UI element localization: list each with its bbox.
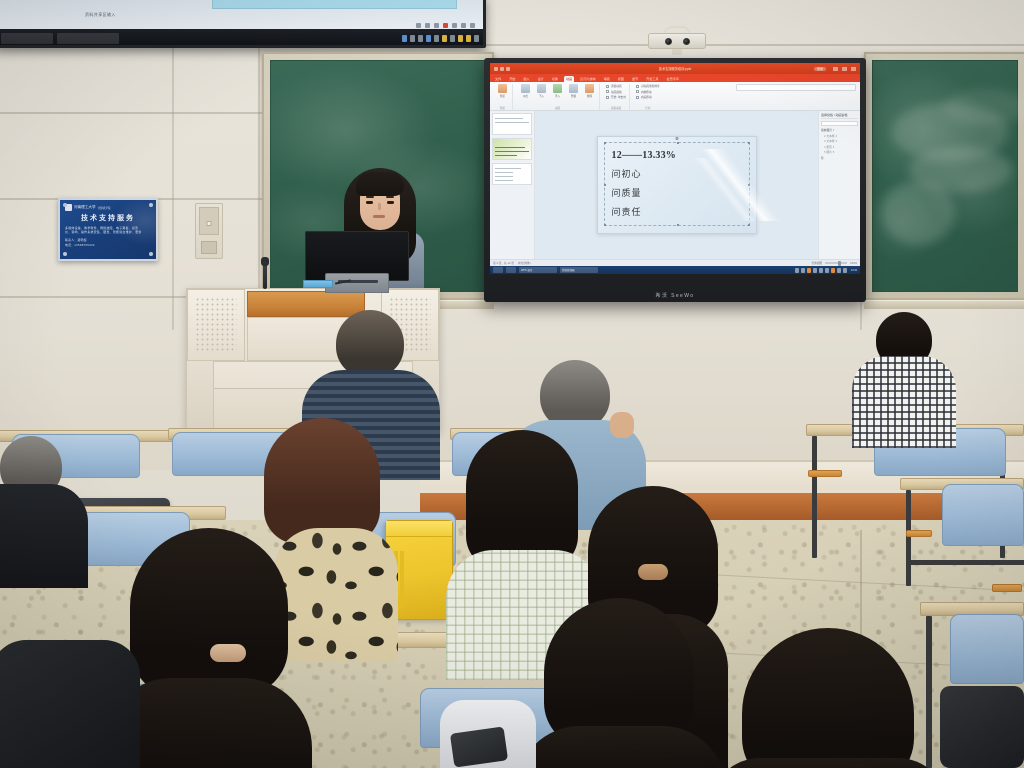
microphone-head-icon: [261, 257, 269, 266]
task-pane-item[interactable]: 秒: [821, 156, 824, 160]
ceiling-monitor-screen: 资料共享区输入: [0, 0, 483, 29]
desk-leg: [906, 490, 911, 586]
language-indicator[interactable]: 中文(简体): [518, 261, 531, 265]
head: [336, 310, 404, 378]
poster-contact-name: 联系人：郑明超: [65, 238, 151, 242]
presenter-eye: [387, 201, 394, 204]
hair-tie: [638, 564, 668, 580]
rotate-handle[interactable]: [675, 137, 678, 140]
hair-fall: [710, 758, 948, 768]
seat-back[interactable]: [950, 614, 1024, 684]
task-pane-item[interactable]: 4 矩形 4: [821, 145, 858, 149]
notification-icon: [807, 268, 811, 273]
slide-bullet-3: 问责任: [612, 205, 746, 218]
animation-task-pane[interactable]: 选择窗格 / 动画窗格 播放自 1 标题 1 2 文本框 2 3 文本框 3 4…: [818, 111, 860, 259]
quick-access-toolbar[interactable]: [494, 67, 510, 71]
fly-in-icon: [537, 84, 546, 93]
windows-taskbar[interactable]: WPS 演示 资源管理器 14:32: [490, 266, 860, 274]
shared-document-region: [212, 0, 457, 9]
status-bar-right[interactable]: 普通视图 100%: [811, 261, 857, 265]
task-pane-item[interactable]: 1 标题 1: [821, 128, 858, 132]
ribbon-button-float[interactable]: 浮入: [551, 84, 564, 98]
wps-presentation-window[interactable]: 技术支持服务培训.pptx 登录 文件 开始 插入 设计 切换 动画 幻灯片放映…: [490, 63, 860, 274]
poster-org-suffix: 计算机学院: [98, 206, 111, 210]
slide-counter: 第 3 张，共 12 张: [493, 261, 514, 265]
ceiling-monitor-toolbar: [416, 23, 475, 28]
add-animation-icon: [606, 85, 609, 88]
interactive-flat-panel[interactable]: 技术支持服务培训.pptx 登录 文件 开始 插入 设计 切换 动画 幻灯片放映…: [484, 58, 866, 302]
taskbar-app-wps[interactable]: WPS 演示: [519, 267, 557, 273]
wall-control-panel[interactable]: [195, 203, 223, 259]
record-icon: [443, 23, 448, 28]
ribbon-button-wipe[interactable]: 擦除: [583, 84, 596, 98]
taskbar-clock[interactable]: 14:32: [851, 269, 857, 272]
audience-member-jacket: [0, 640, 140, 768]
ceiling-monitor-note: 资料共享区输入: [85, 12, 116, 18]
camera-lens-icon: [665, 38, 672, 45]
tab-home[interactable]: 开始: [507, 76, 517, 82]
move-down-icon: [636, 96, 639, 99]
float-icon: [553, 84, 562, 93]
ribbon-button-label: 擦除: [587, 94, 592, 98]
camera-lens-icon: [683, 38, 690, 45]
reorder-icon: [636, 85, 639, 88]
audience-member-right-back: [856, 312, 952, 442]
ribbon-button-label: 劈裂: [571, 94, 576, 98]
current-slide[interactable]: 12——13.33% 问初心 问质量 问责任: [597, 136, 757, 234]
black-bag: [940, 686, 1024, 768]
hand: [610, 412, 634, 438]
ribbon-button-label: 飞入: [539, 94, 544, 98]
ribbon-group-name: 计时: [645, 106, 650, 110]
torso: [0, 484, 88, 588]
folding-armrest: [808, 470, 842, 477]
chalkboard-right: [864, 52, 1024, 300]
reorder-animation-label[interactable]: 对动画重新排序: [636, 84, 660, 88]
search-icon[interactable]: [506, 267, 516, 273]
editor-body: 12——13.33% 问初心 问质量 问责任 选择窗格 / 动画窗格: [490, 111, 860, 259]
speaker-grille-icon: [195, 297, 237, 353]
ribbon-tabs[interactable]: 文件 开始 插入 设计 切换 动画 幻灯片放映 审阅 视图 章节 开发工具 会员…: [490, 74, 860, 82]
folding-armrest: [992, 584, 1022, 592]
panel-vent: [201, 241, 217, 254]
move-later-button[interactable]: 向后移动: [636, 95, 652, 99]
ribbon-button-label: 浮入: [555, 94, 560, 98]
ribbon-group-timing: 对动画重新排序 向前移动 向后移动 计时: [633, 84, 663, 110]
add-animation-button[interactable]: 添加动画: [606, 84, 622, 88]
tab-transitions[interactable]: 切换: [550, 76, 560, 82]
podium-speaker-panel: [187, 289, 245, 361]
audience-member-front-right: [700, 628, 950, 768]
maximize-icon: [842, 67, 847, 71]
ribbon-group-advanced-animation: 添加动画 动画窗格 开始: 单击时 高级动画: [603, 84, 630, 110]
task-pane-item[interactable]: 3 文本框 3: [821, 139, 858, 143]
head: [130, 528, 288, 696]
poster-contact-phone: 电话：13598765432: [65, 243, 151, 247]
login-button[interactable]: 登录: [814, 67, 826, 71]
torso: [852, 356, 956, 448]
slide-heading: 12——13.33%: [612, 150, 746, 161]
zoom-level[interactable]: 100%: [850, 262, 857, 265]
command-search-input[interactable]: [736, 84, 856, 91]
slide-thumbnail[interactable]: [492, 113, 532, 135]
ribbon-group-preview: 预览 预览: [493, 84, 513, 110]
tab-insert[interactable]: 插入: [521, 76, 531, 82]
desk-leg: [812, 436, 817, 558]
animation-pane-icon: [606, 90, 609, 93]
presenter-mouth: [373, 215, 385, 218]
slide-bullet-2: 问质量: [612, 186, 746, 199]
ribbon-group-name: 预览: [500, 106, 505, 110]
lecture-hall-photo: 资料共享区输入 KONKA: [0, 0, 1024, 768]
audience-member-back-left: [0, 436, 92, 566]
tab-view[interactable]: 视图: [616, 76, 626, 82]
preview-icon: [498, 84, 507, 93]
folding-armrest: [906, 530, 932, 537]
slide-thumbnail-current[interactable]: [492, 163, 532, 185]
technical-support-poster: 河南理工大学 计算机学院 技术支持服务 多媒体设备、教学软件、网络故障、电子黑板…: [58, 198, 158, 261]
status-bar: 第 3 张，共 12 张 中文(简体) 普通视图 100%: [490, 259, 860, 266]
ribbon-button-fade[interactable]: 淡出: [519, 84, 532, 98]
title-bar: 技术支持服务培训.pptx 登录: [490, 63, 860, 74]
task-pane-search-input[interactable]: [821, 121, 858, 126]
ribbon-button-preview[interactable]: 预览: [496, 84, 509, 98]
system-tray[interactable]: 14:32: [795, 268, 857, 273]
ceiling-monitor-taskbar: [0, 29, 483, 48]
chalk-ledge: [864, 300, 1024, 309]
task-pane-item[interactable]: 2 文本框 2: [821, 134, 858, 138]
chalkboard-surface: [872, 60, 1018, 292]
task-pane-title: 选择窗格 / 动画窗格: [821, 113, 858, 119]
camera-stem: [672, 49, 682, 55]
blue-info-card: [303, 280, 333, 288]
tab-slideshow[interactable]: 幻灯片放映: [578, 76, 597, 82]
zoom-slider[interactable]: [825, 262, 847, 264]
slide-bullet-1: 问初心: [612, 167, 746, 180]
dual-lens-camera: [648, 33, 706, 49]
taskbar-app-explorer[interactable]: 资源管理器: [560, 267, 598, 273]
move-earlier-button[interactable]: 向前移动: [636, 90, 652, 94]
presenter-fringe: [356, 172, 404, 196]
ribbon-button-label: 预览: [500, 94, 505, 98]
wipe-icon: [585, 84, 594, 93]
move-up-icon: [636, 90, 639, 93]
head: [742, 628, 914, 768]
display-brand-label: 希沃 SeeWo: [484, 292, 866, 299]
gooseneck-microphone[interactable]: [263, 263, 267, 289]
poster-body-line: 仪、音响、操作系统安装、硬盘、智能讲台维护、更新: [65, 230, 151, 234]
desk-brace: [906, 560, 1024, 565]
window-controls[interactable]: [833, 67, 856, 71]
tab-member[interactable]: 会员专享: [665, 76, 681, 82]
fade-icon: [521, 84, 530, 93]
tab-developer[interactable]: 开发工具: [644, 76, 660, 82]
task-pane-item[interactable]: 5 图片 5: [821, 150, 858, 154]
presenter-eye: [366, 201, 373, 204]
ribbon-button-split[interactable]: 劈裂: [567, 84, 580, 98]
ribbon-group-name: 高级动画: [611, 106, 621, 110]
ceiling-monitor: 资料共享区输入 KONKA: [0, 0, 486, 48]
slide-text-block[interactable]: 12——13.33% 问初心 问质量 问责任: [612, 150, 746, 224]
hair-fall: [516, 726, 726, 768]
redo-icon: [506, 67, 510, 71]
start-button[interactable]: [493, 267, 503, 273]
ribbon-group-name: 动画: [555, 106, 560, 110]
start-icon: [606, 96, 609, 99]
tab-review[interactable]: 审阅: [602, 76, 612, 82]
minimize-icon: [833, 67, 838, 71]
display-screen[interactable]: 技术支持服务培训.pptx 登录 文件 开始 插入 设计 切换 动画 幻灯片放映…: [490, 63, 860, 274]
tab-file[interactable]: 文件: [493, 76, 503, 82]
tab-design[interactable]: 设计: [536, 76, 546, 82]
split-icon: [569, 84, 578, 93]
ceiling-monitor-brand: KONKA: [0, 45, 483, 48]
tab-section[interactable]: 章节: [630, 76, 640, 82]
hair-tie: [210, 644, 246, 662]
ribbon-button-flyin[interactable]: 飞入: [535, 84, 548, 98]
ribbon-group-animation: 淡出 飞入 浮入 劈裂: [516, 84, 600, 110]
presenter-nose: [378, 203, 381, 210]
slide-thumbnail[interactable]: [492, 138, 532, 160]
tab-animations[interactable]: 动画: [564, 76, 574, 82]
ribbon-button-label: 淡出: [523, 94, 528, 98]
document-name: 技术支持服务培训.pptx: [659, 66, 691, 71]
seat-back[interactable]: [942, 484, 1024, 546]
animation-pane-button[interactable]: 动画窗格: [606, 90, 622, 94]
animation-start-setting[interactable]: 开始: 单击时: [606, 95, 626, 99]
view-mode-label[interactable]: 普通视图: [811, 261, 822, 265]
slide-editing-stage[interactable]: 12——13.33% 问初心 问质量 问责任: [535, 111, 818, 259]
close-icon: [851, 67, 856, 71]
save-icon: [494, 67, 498, 71]
slide-thumbnail-panel[interactable]: [490, 111, 535, 259]
head: [264, 418, 380, 544]
undo-icon: [500, 67, 504, 71]
panel-button[interactable]: [207, 221, 212, 226]
